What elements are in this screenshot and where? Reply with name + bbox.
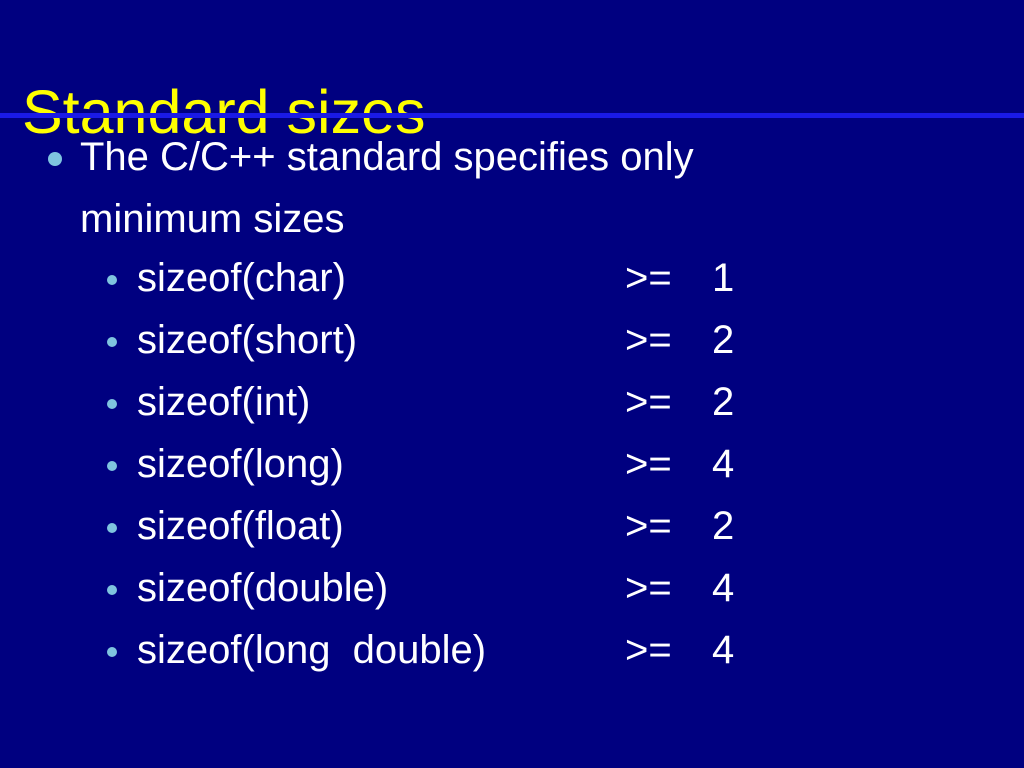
disc-bullet-icon [48, 152, 62, 166]
list-item: sizeof(long double)>=4 [0, 622, 1024, 684]
list-item-value: 2 [712, 498, 734, 554]
list-item-label: sizeof(int) [137, 374, 310, 430]
list-item-operator: >= [625, 250, 672, 306]
list-item: sizeof(double)>=4 [0, 560, 1024, 622]
disc-bullet-icon [107, 647, 117, 657]
list-item-operator: >= [625, 374, 672, 430]
disc-bullet-icon [107, 523, 117, 533]
list-item-value: 4 [712, 622, 734, 678]
list-item-value: 4 [712, 436, 734, 492]
disc-bullet-icon [107, 275, 117, 285]
list-item-value: 1 [712, 250, 734, 306]
disc-bullet-icon [107, 399, 117, 409]
list-item-operator: >= [625, 560, 672, 616]
disc-bullet-icon [107, 337, 117, 347]
title-divider [0, 113, 1024, 118]
list-item-label: sizeof(short) [137, 312, 357, 368]
list-item-label: sizeof(long double) [137, 622, 486, 678]
disc-bullet-icon [107, 585, 117, 595]
list-item: sizeof(float)>=2 [0, 498, 1024, 560]
disc-bullet-icon [107, 461, 117, 471]
list-item-operator: >= [625, 622, 672, 678]
list-item-value: 2 [712, 312, 734, 368]
list-item-label: sizeof(char) [137, 250, 346, 306]
list-item: sizeof(short)>=2 [0, 312, 1024, 374]
slide-body: The C/C++ standard specifies only minimu… [0, 126, 1024, 756]
list-item-value: 4 [712, 560, 734, 616]
list-item-operator: >= [625, 498, 672, 554]
list-item-operator: >= [625, 436, 672, 492]
list-item: sizeof(long)>=4 [0, 436, 1024, 498]
list-item-value: 2 [712, 374, 734, 430]
list-item-label: sizeof(long) [137, 436, 344, 492]
list-item-label: sizeof(double) [137, 560, 388, 616]
bullet-item-level1-label: The C/C++ standard specifies only minimu… [80, 126, 920, 250]
list-item-label: sizeof(float) [137, 498, 344, 554]
slide: Standard sizes The C/C++ standard specif… [0, 0, 1024, 768]
list-item: sizeof(char)>=1 [0, 250, 1024, 312]
list-item: sizeof(int)>=2 [0, 374, 1024, 436]
list-item-operator: >= [625, 312, 672, 368]
